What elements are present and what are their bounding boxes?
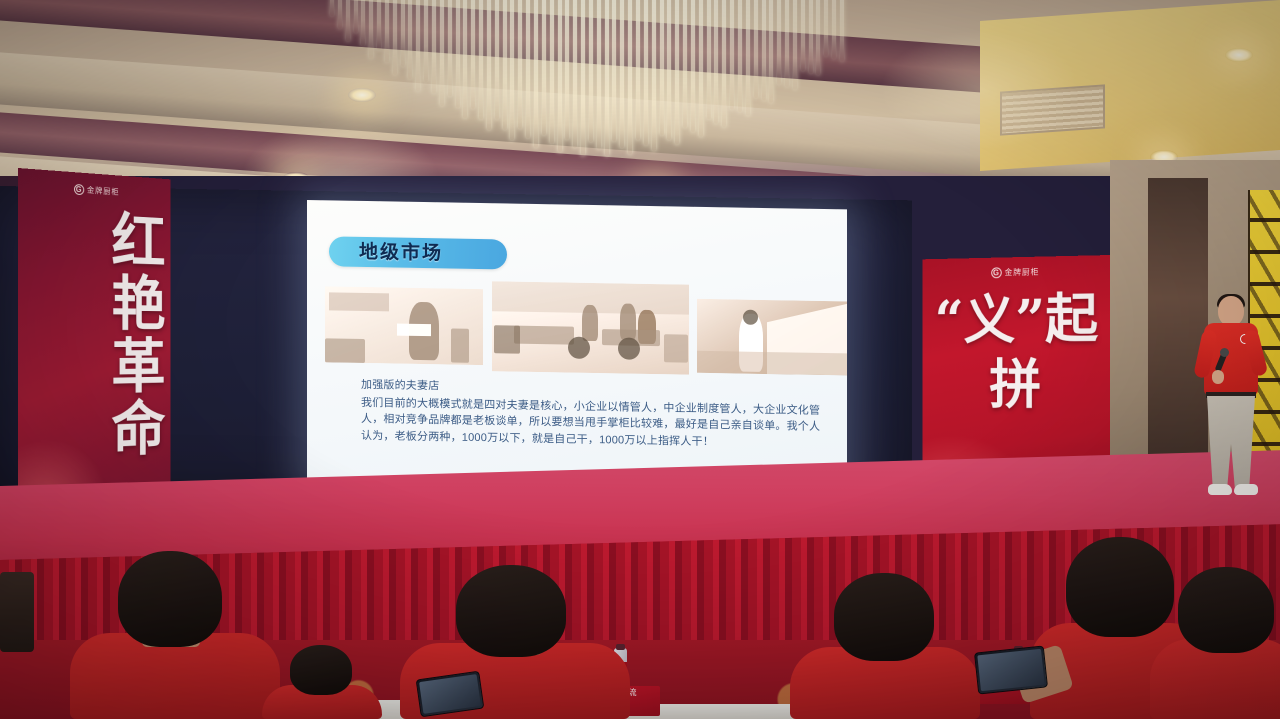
audience-member-1 [70, 559, 280, 719]
chandelier-crystal-rod [354, 0, 358, 33]
chandelier-crystal-rod [605, 0, 609, 156]
chandelier-crystal-rod [495, 0, 499, 120]
chandelier-crystal-rod [487, 0, 491, 130]
chandelier-crystal-rod [840, 0, 844, 61]
chandelier-crystal-rod [793, 0, 797, 90]
chandelier-crystal-rod [832, 0, 836, 59]
chandelier-crystal-rod [644, 0, 648, 145]
phone-screen [419, 674, 481, 714]
microphone-head [1220, 348, 1229, 357]
chandelier-crystal-rod [652, 0, 656, 151]
chandelier-crystal-rod [714, 0, 718, 124]
slide-body-text: 加强版的夫妻店 我们目前的大概模式就是四对夫妻是核心，小企业以情管人，中企业制度… [361, 377, 831, 452]
chandelier-crystal-rod [534, 0, 538, 147]
conference-hall-scene: 地级市场 [0, 0, 1280, 719]
chandelier-crystal-rod [432, 0, 436, 94]
chandelier-crystal-rod [754, 0, 758, 98]
chandelier-crystal-rod [816, 0, 820, 76]
presenter [1196, 296, 1266, 508]
chair-back [0, 572, 34, 652]
presenter-hand [1212, 370, 1224, 384]
chandelier-crystal-rod [377, 0, 381, 50]
presenter-shoe-left [1208, 484, 1232, 495]
chandelier-crystal-rod [660, 0, 664, 135]
presenter-head [1218, 296, 1244, 326]
ceiling-light-wash [880, 30, 1080, 150]
chandelier-crystal-rod [401, 0, 405, 67]
chandelier-crystal-rod [330, 0, 334, 16]
chandelier-crystal-rod [777, 0, 781, 85]
ceiling-downlight [348, 88, 376, 102]
banner-left-logo-text: 金牌厨柜 [87, 186, 119, 197]
chandelier-crystal-rod [769, 0, 773, 103]
audience-member-5 [1150, 569, 1280, 719]
chandelier-crystal-rod [762, 0, 766, 101]
chandelier-crystal-rod [746, 0, 750, 116]
chandelier-crystal-rod [683, 0, 687, 128]
chandelier-crystal-rod [801, 0, 805, 71]
audience-head [834, 573, 934, 661]
chandelier-crystal-rod [581, 0, 585, 156]
chandelier-crystal-rod [809, 0, 813, 73]
audience-head [1178, 567, 1274, 653]
chandelier-crystal-rod [589, 0, 593, 142]
phone-screen [977, 649, 1044, 691]
audience-head [290, 645, 352, 695]
chandelier-crystal-rod [620, 0, 624, 148]
chandelier-crystal-rod [667, 0, 671, 140]
chandelier-crystal-rod [636, 0, 640, 140]
chandelier-crystal-rod [416, 0, 420, 91]
chandelier-crystal-rod [385, 0, 389, 63]
chandelier-crystal-rod [440, 0, 444, 106]
slide-title: 地级市场 [359, 241, 509, 268]
chandelier-crystal-rod [699, 0, 703, 137]
slide-photo-2 [492, 281, 689, 374]
chandelier-crystal-rod [393, 0, 397, 75]
chandelier-crystal-rod [408, 0, 412, 79]
audience-member-6 [262, 659, 382, 719]
chandelier-crystal-rod [526, 0, 530, 138]
presenter-pants [1207, 396, 1255, 488]
chandelier-crystal-rod [785, 0, 789, 87]
chandelier-crystal-rod [550, 0, 554, 144]
banner-right-logo: G金牌厨柜 [923, 265, 1111, 280]
slide-photo-1 [325, 286, 483, 365]
banner-left-logo: G金牌厨柜 [18, 180, 171, 201]
chandelier-crystal-rod [612, 0, 616, 142]
chandelier-crystal-rod [510, 0, 514, 140]
chandelier-crystal-rod [722, 0, 726, 127]
chandelier-crystal-rod [573, 0, 577, 148]
chandelier-crystal-rod [518, 0, 522, 129]
audience-member-3 [790, 569, 980, 719]
chandelier-crystal-rod [471, 0, 475, 109]
chandelier-crystal-rod [675, 0, 679, 145]
chandelier-crystal-rod [824, 0, 828, 57]
chandelier-crystal-rod [730, 0, 734, 110]
slide-body-paragraph: 我们目前的大概模式就是四对夫妻是核心，小企业以情管人，中企业制度管人，大企业文化… [361, 396, 820, 447]
chandelier-crystal-rod [503, 0, 507, 130]
chandelier-crystal-rod [691, 0, 695, 133]
chandelier-crystal-rod [448, 0, 452, 96]
chandelier-crystal-rod [558, 0, 562, 153]
chandelier-crystal-rod [707, 0, 711, 120]
chandelier-crystal-rod [346, 0, 350, 41]
chandelier-crystal-rod [456, 0, 460, 108]
ceiling-downlight [1225, 48, 1253, 62]
smartphone[interactable] [974, 645, 1048, 694]
banner-right-headline: “义”起拼 [923, 285, 1111, 417]
chandelier-crystal-rod [597, 0, 601, 149]
brand-g-icon: G [74, 184, 84, 195]
audience-head [118, 551, 222, 647]
slide-photo-3 [697, 299, 847, 376]
presentation-slide[interactable]: 地级市场 [307, 200, 847, 501]
chandelier-crystal-rod [628, 0, 632, 155]
slide-photo-strip [325, 278, 831, 375]
chandelier-crystal-rod [338, 0, 342, 29]
presenter-shoe-right [1234, 484, 1258, 495]
chandelier-crystal-rod [479, 0, 483, 120]
audience-head [456, 565, 566, 657]
brand-g-icon: G [991, 268, 1002, 279]
chandelier-crystal-rod [565, 0, 569, 140]
audience-member-2 [400, 569, 630, 719]
chandelier-crystal-rod [738, 0, 742, 113]
chandelier-crystal-rod [463, 0, 467, 119]
chandelier-crystal-rod [361, 0, 365, 46]
chandelier-crystal-rod [542, 0, 546, 135]
banner-left: G金牌厨柜 红艳革命 [18, 168, 171, 504]
chandelier-crystal-rod [424, 0, 428, 82]
banner-right-logo-text: 金牌厨柜 [1005, 268, 1040, 278]
ceiling [0, 0, 1280, 200]
chandelier-crystal-rod [369, 0, 373, 59]
